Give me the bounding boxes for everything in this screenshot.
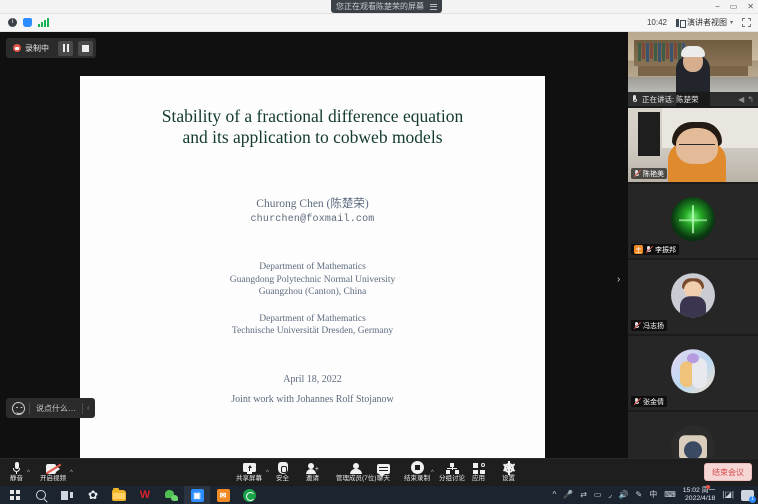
end-meeting-button[interactable]: 结束会议 — [704, 463, 752, 481]
tray-microphone-icon[interactable]: 🎤 — [563, 491, 573, 499]
share-screen-icon — [243, 461, 256, 474]
notification-count: 1 — [749, 496, 756, 503]
meeting-info-right: 10:42 演讲者视图 ▾ — [647, 17, 758, 28]
share-screen-button[interactable]: 共享屏幕 — [236, 461, 262, 486]
participant-name: 张金倩 — [643, 397, 664, 407]
security-label: 安全 — [276, 475, 289, 483]
tray-alert-dot — [706, 485, 710, 489]
meeting-info-left: i — [0, 18, 49, 27]
collapse-reaction-bar-button[interactable]: ‹ — [83, 405, 93, 412]
minimize-button[interactable]: − — [715, 3, 720, 11]
view-mode-label: 演讲者视图 — [687, 17, 727, 28]
avatar — [671, 197, 715, 241]
taskbar-date: 2022/4/18 — [683, 495, 716, 503]
network-signal-icon[interactable] — [38, 18, 49, 27]
tray-display-icon[interactable]: ▭ — [594, 491, 602, 499]
invite-icon: + — [306, 461, 319, 474]
info-icon[interactable]: i — [8, 18, 17, 27]
recording-control-bar: 录制中 — [6, 38, 96, 58]
next-participants-arrow[interactable]: › — [617, 274, 620, 285]
tray-volume-icon[interactable]: 🔊 — [619, 491, 629, 499]
taskbar-app-explorer[interactable] — [106, 486, 132, 504]
affiliation2-line2: Technische Universität Dresden, Germany — [80, 325, 545, 338]
system-tray: ^ 🎤 ⇄ ▭ ◞ 🔊 ✎ 中 ⌨ 15:02 周一 2022/4/18 |◪|… — [552, 487, 758, 503]
file-explorer-icon — [112, 490, 126, 501]
meeting-window: 您正在观看陈楚荣的屏幕 − ▭ ✕ i 10:42 演讲者视图 ▾ — [0, 0, 758, 504]
slide-affiliation-2: Department of Mathematics Technische Uni… — [80, 313, 545, 338]
apps-label: 应用 — [472, 475, 485, 483]
participant-tile[interactable]: 陈艳美 — [628, 108, 758, 182]
fullscreen-icon[interactable] — [742, 18, 751, 27]
collapse-strip-icon[interactable]: ↰ — [747, 95, 754, 104]
slide-affiliation-1: Department of Mathematics Guangdong Poly… — [80, 261, 545, 299]
window-titlebar: 您正在观看陈楚荣的屏幕 − ▭ ✕ — [0, 0, 758, 14]
breakout-rooms-label: 分组讨论 — [439, 475, 465, 483]
chevron-down-icon: ▾ — [730, 19, 733, 26]
stop-recording-icon — [411, 461, 424, 474]
search-icon — [36, 490, 46, 500]
share-status-text: 您正在观看陈楚荣的屏幕 — [336, 0, 424, 13]
chat-icon — [377, 461, 390, 474]
taskbar-app-wps[interactable]: W — [132, 486, 158, 504]
zoom-icon: ▣ — [191, 489, 204, 502]
participant-tile[interactable] — [628, 412, 758, 458]
gear-icon — [503, 461, 515, 474]
share-screen-label: 共享屏幕 — [236, 475, 262, 483]
avatar — [671, 425, 715, 458]
browser-icon — [243, 489, 256, 502]
microphone-muted-icon — [634, 322, 640, 330]
taskbar-time: 15:02 周一 — [683, 487, 716, 495]
tray-expand-icon[interactable]: ^ — [552, 491, 556, 499]
affiliation1-line3: Guangzhou (Canton), China — [80, 286, 545, 299]
reaction-input-bar: 说点什么… ‹ — [6, 398, 95, 418]
participant-name: 李振邦 — [655, 245, 676, 255]
participant-name-badge: 陈艳美 — [631, 168, 667, 179]
windows-logo-icon — [10, 490, 20, 500]
participant-tile[interactable]: 主 李振邦 — [628, 184, 758, 258]
stop-icon — [82, 45, 89, 52]
affiliation1-line2: Guangdong Polytechnic Normal University — [80, 274, 545, 287]
mute-button[interactable]: 静音 — [10, 461, 23, 486]
microphone-muted-icon — [634, 398, 640, 406]
window-controls: − ▭ ✕ — [715, 0, 754, 14]
stop-recording-label: 结束录制 — [404, 475, 430, 483]
taskbar-app-wechat[interactable] — [158, 486, 184, 504]
tray-ime-mode[interactable]: 中 — [649, 491, 657, 499]
fan-app-icon: ✿ — [88, 489, 98, 501]
slide-author: Churong Chen (陈楚荣) — [80, 195, 545, 211]
close-button[interactable]: ✕ — [747, 3, 754, 11]
host-badge: 主 — [634, 245, 643, 254]
slide-email: churchen@foxmail.com — [80, 214, 545, 225]
participant-name: 陈艳美 — [643, 169, 664, 179]
tray-meeting-icon[interactable]: |◪| — [722, 491, 734, 499]
active-speaker-banner: 正在讲话: 陈楚荣 ◀ ↰ — [628, 92, 758, 106]
share-menu-icon[interactable] — [430, 4, 437, 10]
affiliation2-line1: Department of Mathematics — [80, 313, 545, 326]
invite-button[interactable]: + 邀请 — [306, 461, 319, 486]
security-button[interactable]: 安全 — [276, 461, 289, 486]
tray-ime-pen-icon[interactable]: ✎ — [636, 491, 643, 499]
participant-name-badge: 张金倩 — [631, 396, 667, 407]
microphone-icon — [13, 461, 21, 474]
video-options-caret[interactable]: ^ — [70, 470, 73, 476]
stop-recording-button[interactable] — [78, 41, 93, 56]
maximize-button[interactable]: ▭ — [730, 3, 738, 11]
share-status-banner[interactable]: 您正在观看陈楚荣的屏幕 — [331, 0, 442, 13]
tray-settings-icon[interactable]: ⇄ — [580, 491, 587, 499]
participant-name: 冯志扬 — [643, 321, 664, 331]
active-speaker-label: 正在讲话: 陈楚荣 — [642, 94, 699, 105]
invite-label: 邀请 — [306, 475, 319, 483]
participant-tile[interactable]: 张金倩 — [628, 336, 758, 410]
microphone-muted-icon — [646, 246, 652, 254]
affiliation1-line1: Department of Mathematics — [80, 261, 545, 274]
start-video-label: 开启视频 — [40, 475, 66, 483]
participant-tile[interactable]: 正在讲话: 陈楚荣 ◀ ↰ — [628, 32, 758, 106]
emoji-icon[interactable] — [12, 402, 25, 415]
taskbar-apps: ✿ W ▣ ✉ — [0, 486, 262, 504]
recording-label: 录制中 — [25, 43, 49, 54]
slide-title-line1: Stability of a fractional difference equ… — [90, 106, 535, 127]
participant-strip[interactable]: 正在讲话: 陈楚荣 ◀ ↰ 陈艳美 主 李 — [628, 32, 758, 458]
windows-taskbar: ✿ W ▣ ✉ ^ 🎤 ⇄ ▭ — [0, 486, 758, 504]
slide-joint-work: Joint work with Johannes Rolf Stojanow — [80, 394, 545, 405]
microphone-muted-icon — [634, 170, 640, 178]
participant-name-badge: 主 李振邦 — [631, 244, 679, 255]
slide-date: April 18, 2022 — [80, 374, 545, 385]
wechat-icon — [165, 490, 178, 501]
mail-icon: ✉ — [217, 489, 230, 502]
avatar — [671, 273, 715, 317]
prev-page-icon[interactable]: ◀ — [738, 95, 744, 104]
slide-title-line2: and its application to cobweb models — [90, 127, 535, 148]
manage-members-button[interactable]: 管理成员(7位) — [336, 461, 376, 486]
manage-members-label: 管理成员(7位) — [336, 475, 376, 483]
shared-screen-stage: 录制中 Stability of a fractional difference… — [0, 32, 628, 458]
shield-icon — [278, 461, 288, 474]
taskbar-clock[interactable]: 15:02 周一 2022/4/18 — [683, 487, 716, 503]
settings-label: 设置 — [502, 475, 515, 483]
camera-off-icon — [46, 461, 60, 474]
recording-status: 录制中 — [9, 43, 53, 54]
speaker-view-icon — [676, 19, 684, 27]
encryption-shield-icon[interactable] — [23, 18, 32, 27]
meeting-toolbar: 静音 ^ 开启视频 ^ 共享屏幕 ^ 安全 + 邀请 — [0, 458, 758, 486]
strip-nav-controls[interactable]: ◀ ↰ — [738, 95, 754, 104]
pause-icon — [63, 44, 69, 52]
taskbar-app-zoom[interactable]: ▣ — [184, 486, 210, 504]
recording-options-caret[interactable]: ^ — [431, 470, 434, 476]
presentation-slide: Stability of a fractional difference equ… — [80, 76, 545, 459]
taskbar-search-button[interactable] — [28, 486, 54, 504]
apps-button[interactable]: 应用 — [472, 461, 485, 486]
task-view-icon — [61, 491, 73, 500]
stop-recording-button[interactable]: 结束录制 — [404, 461, 430, 486]
breakout-rooms-button[interactable]: 分组讨论 — [439, 461, 465, 486]
settings-button[interactable]: 设置 — [502, 461, 515, 486]
meeting-clock: 10:42 — [647, 18, 667, 27]
notification-center-button[interactable]: 1 — [741, 490, 754, 501]
reaction-input[interactable]: 说点什么… — [30, 403, 82, 414]
breakout-rooms-icon — [446, 461, 459, 474]
slide-title: Stability of a fractional difference equ… — [80, 106, 545, 148]
recording-indicator-icon — [13, 44, 21, 52]
audio-options-caret[interactable]: ^ — [27, 470, 30, 476]
start-video-button[interactable]: 开启视频 — [40, 461, 66, 486]
task-view-button[interactable] — [54, 486, 80, 504]
mute-label: 静音 — [10, 475, 23, 483]
taskbar-app-mail[interactable]: ✉ — [210, 486, 236, 504]
end-meeting-label: 结束会议 — [712, 467, 744, 478]
share-options-caret[interactable]: ^ — [266, 470, 269, 476]
taskbar-app-browser[interactable] — [236, 486, 262, 504]
avatar — [671, 349, 715, 393]
participant-tile[interactable]: 冯志扬 — [628, 260, 758, 334]
meeting-info-bar: i 10:42 演讲者视图 ▾ — [0, 14, 758, 32]
taskbar-app-fan[interactable]: ✿ — [80, 486, 106, 504]
tray-wifi-icon[interactable]: ◞ — [608, 491, 611, 499]
participants-icon — [350, 461, 362, 474]
start-button[interactable] — [2, 486, 28, 504]
chat-button[interactable]: 聊天 — [377, 461, 390, 486]
apps-grid-icon — [473, 461, 485, 474]
participant-name-badge: 冯志扬 — [631, 320, 667, 331]
pause-recording-button[interactable] — [58, 41, 73, 56]
tray-ime-keyboard-icon[interactable]: ⌨ — [664, 491, 676, 499]
view-mode-selector[interactable]: 演讲者视图 ▾ — [676, 17, 733, 28]
wps-office-icon: W — [140, 490, 150, 501]
microphone-icon — [632, 95, 638, 103]
